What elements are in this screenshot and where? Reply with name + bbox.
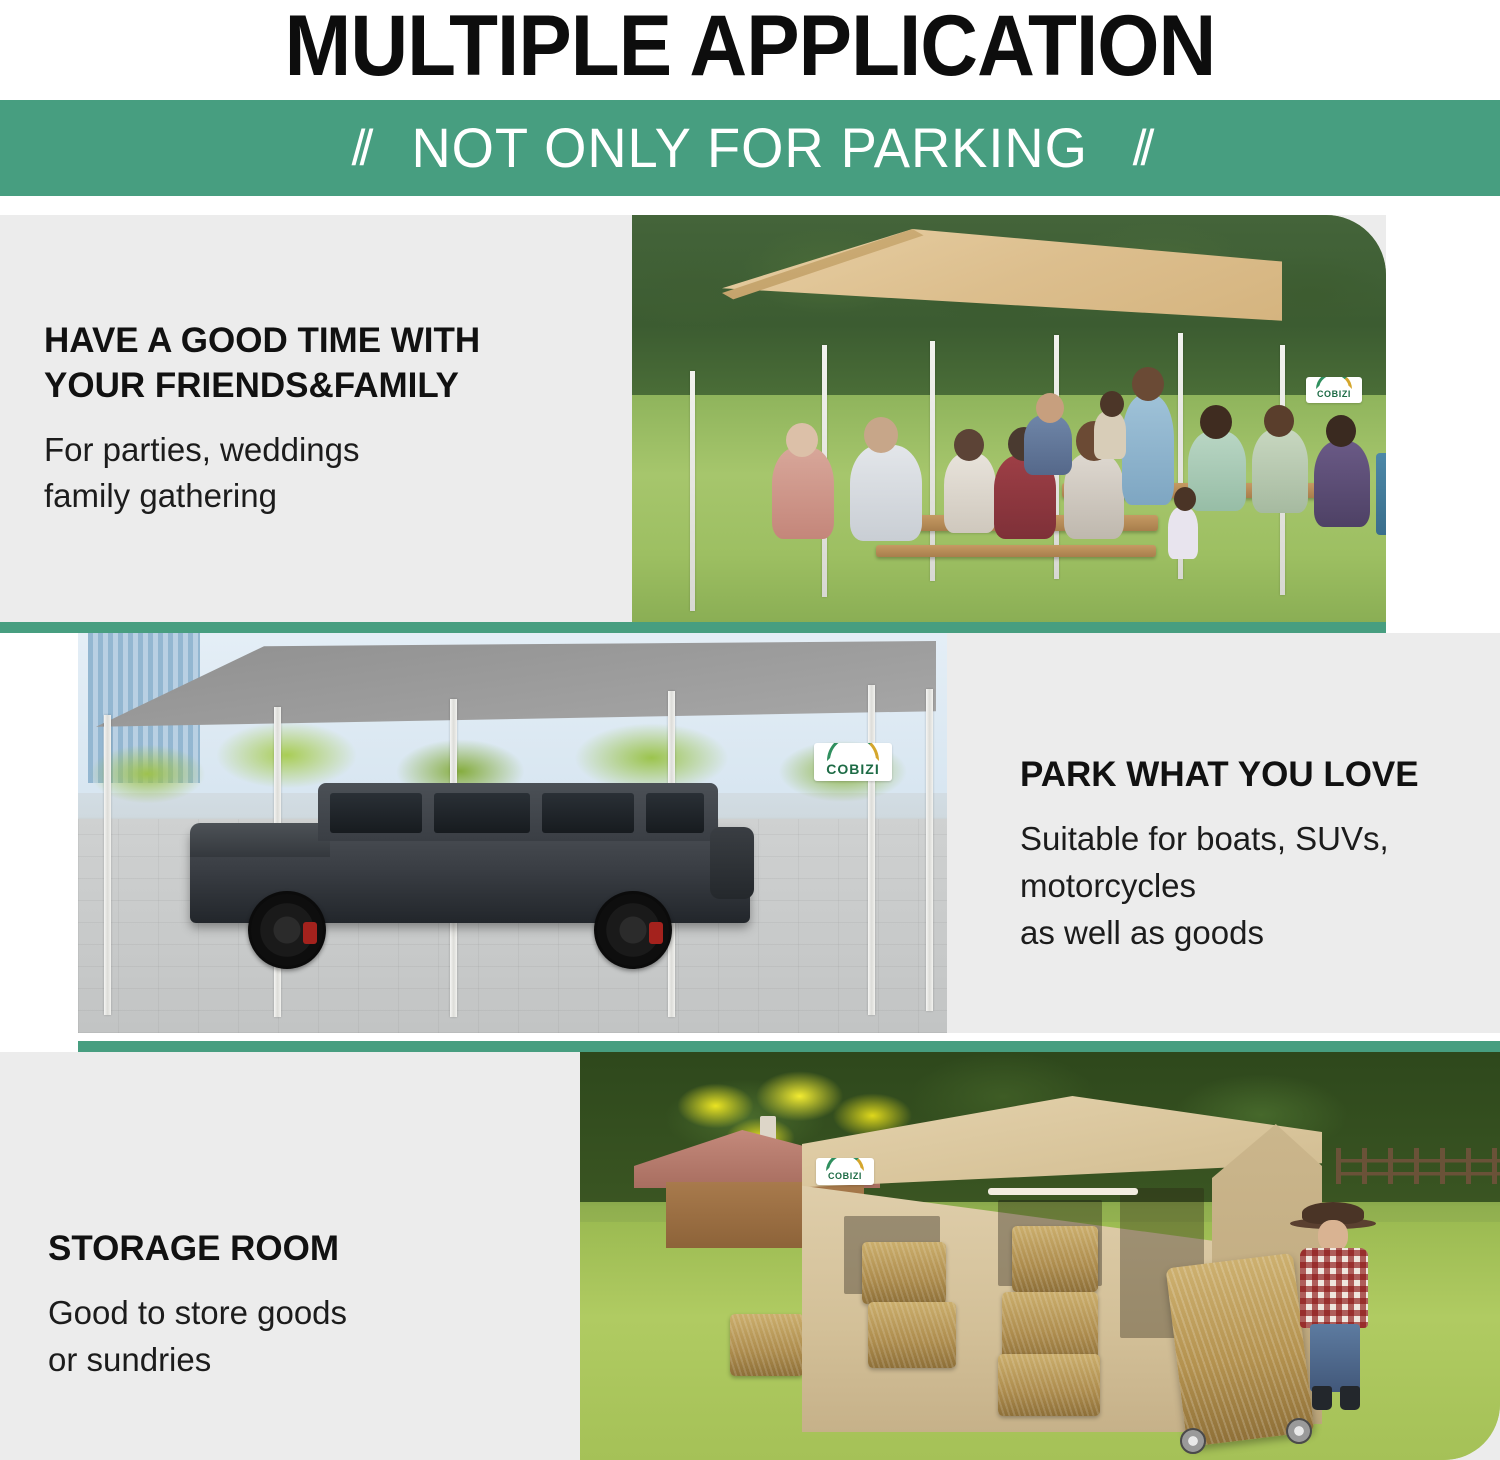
banner-subtitle: NOT ONLY FOR PARKING [412, 120, 1088, 176]
panel-family-heading: HAVE A GOOD TIME WITH YOUR FRIENDS&FAMIL… [44, 319, 604, 409]
suv-wheel [594, 891, 672, 969]
panel-parking: COBIZI PARK WHAT YOU LOVE Suitable for b… [0, 633, 1500, 1042]
hay-bale [1002, 1292, 1098, 1362]
suv-window [646, 793, 704, 833]
brake-caliper [303, 922, 317, 944]
canopy-pole [868, 685, 875, 1015]
suv-window [542, 793, 634, 833]
panel-storage-heading: STORAGE ROOM [48, 1227, 568, 1272]
canopy-pole [104, 715, 111, 1015]
person-head [1036, 393, 1064, 423]
brand-logo-badge: COBIZI [816, 1158, 874, 1185]
hay-bale [1012, 1226, 1098, 1292]
slash-left-icon: // [352, 123, 368, 173]
person-figure [1064, 453, 1124, 539]
farmer-figure [1280, 1202, 1400, 1412]
logo-arc-icon [826, 1162, 864, 1171]
suv-hood [190, 823, 330, 857]
brand-name: COBIZI [1317, 390, 1351, 399]
panel-storage: STORAGE ROOM Good to store goods or sund… [0, 1052, 1500, 1460]
farmer-boot [1340, 1386, 1360, 1410]
panel-parking-left-gap [0, 633, 78, 1033]
panel-storage-subtext: Good to store goods or sundries [48, 1290, 568, 1384]
person-figure [772, 447, 834, 539]
person-figure [944, 453, 996, 533]
canopy-pole [690, 371, 695, 611]
suv-vehicle [190, 783, 760, 961]
tent-rail [988, 1188, 1138, 1195]
hay-bale [730, 1314, 804, 1376]
person-head [954, 429, 984, 461]
child-head [1100, 391, 1124, 417]
person-figure [1188, 431, 1246, 511]
hay-bale [862, 1242, 946, 1304]
person-head [864, 417, 898, 453]
panel-storage-text: STORAGE ROOM Good to store goods or sund… [48, 1227, 568, 1384]
divider-one [0, 622, 1386, 633]
panel-parking-subtext: Suitable for boats, SUVs, motorcycles as… [1020, 816, 1490, 957]
slash-right-icon: // [1133, 123, 1149, 173]
brand-logo-badge: COBIZI [814, 743, 892, 781]
panel-family-text: HAVE A GOOD TIME WITH YOUR FRIENDS&FAMIL… [44, 319, 604, 520]
child-head [1174, 487, 1196, 511]
brand-name: COBIZI [828, 1172, 862, 1181]
person-figure [1252, 429, 1308, 513]
panel-storage-photo: COBIZI [580, 1052, 1500, 1460]
divider-two [78, 1041, 1500, 1052]
chair [1376, 453, 1386, 535]
logo-arc-icon [1316, 381, 1353, 390]
suv-window [434, 793, 530, 833]
person-figure [850, 445, 922, 541]
canopy-pole [926, 689, 933, 1011]
brand-logo-badge: COBIZI [1306, 377, 1362, 403]
panel-parking-photo: COBIZI [78, 633, 947, 1033]
panel-parking-text: PARK WHAT YOU LOVE Suitable for boats, S… [1020, 753, 1490, 956]
hay-bale [868, 1302, 956, 1368]
brake-caliper [649, 922, 663, 944]
person-head [1326, 415, 1356, 447]
suv-wheel [248, 891, 326, 969]
person-head [1132, 367, 1164, 401]
picnic-bench [876, 545, 1156, 557]
child-figure [1094, 411, 1126, 459]
farmer-plaid-shirt [1300, 1248, 1368, 1328]
suv-cabin [318, 783, 718, 841]
wooden-fence [1336, 1148, 1500, 1184]
person-figure [1314, 441, 1370, 527]
cart-wheel [1180, 1428, 1206, 1454]
suv-spare-tire-cover [710, 827, 754, 899]
person-head [786, 423, 818, 457]
person-head [1200, 405, 1232, 439]
cart-wheel [1286, 1418, 1312, 1444]
suv-window [330, 793, 422, 833]
logo-arc-icon [827, 748, 878, 761]
panel-parking-heading: PARK WHAT YOU LOVE [1020, 753, 1490, 798]
panel-family-photo: COBIZI [632, 215, 1386, 623]
person-standing-figure [1122, 395, 1174, 505]
panel-family: HAVE A GOOD TIME WITH YOUR FRIENDS&FAMIL… [0, 215, 1386, 623]
person-figure [1024, 415, 1072, 475]
brand-name: COBIZI [826, 762, 879, 776]
page-title: MULTIPLE APPLICATION [53, 0, 1448, 100]
person-head [1264, 405, 1294, 437]
farmer-jeans [1310, 1324, 1360, 1392]
farmer-boot [1312, 1386, 1332, 1410]
hay-bale [998, 1354, 1100, 1416]
banner-inner: // NOT ONLY FOR PARKING // [352, 120, 1149, 176]
child-figure [1168, 507, 1198, 559]
panel-family-subtext: For parties, weddings family gathering [44, 427, 604, 521]
subtitle-banner: // NOT ONLY FOR PARKING // [0, 100, 1500, 196]
